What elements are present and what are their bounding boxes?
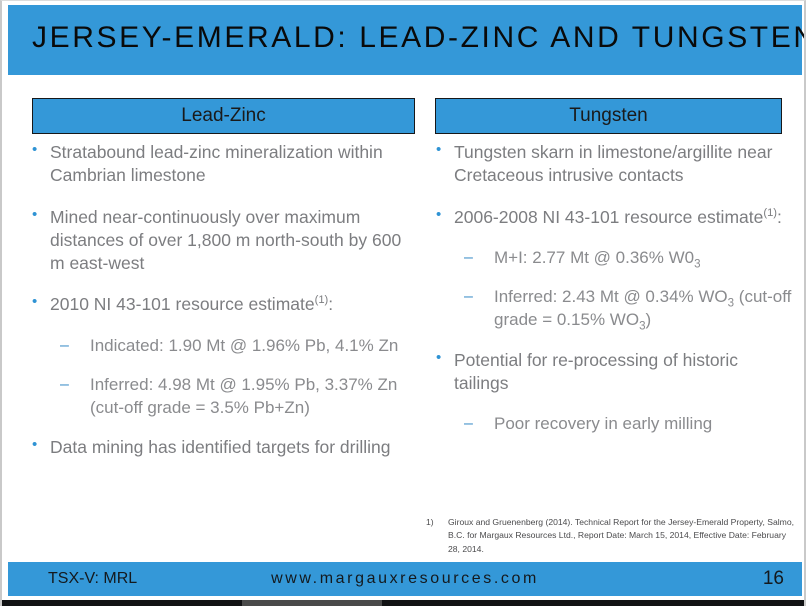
tungsten-content: Tungsten skarn in limestone/argillite ne… [432,141,792,453]
bullet-text: Stratabound lead-zinc mineralization wit… [50,142,383,185]
footnote-ref: (1) [763,207,777,219]
column-header-lead-zinc-label: Lead-Zinc [181,105,266,127]
footnote-text: Giroux and Gruenenberg (2014). Technical… [448,516,794,556]
sub-bullet-item: Poor recovery in early milling [460,413,792,436]
sub-bullet-text: M+I: 2.77 Mt @ 0.36% W0 [494,248,694,267]
bullet-suffix: : [777,207,782,227]
sub-bullet-text-end: ) [645,310,651,329]
column-header-tungsten: Tungsten [435,98,782,134]
bullet-item: Tungsten skarn in limestone/argillite ne… [432,141,792,188]
footer-bar: TSX-V: MRL www.margauxresources.com 16 [8,562,802,596]
bottom-edge-strip [2,600,806,606]
footnote-ref: (1) [315,295,329,307]
lead-zinc-content: Stratabound lead-zinc mineralization wit… [28,141,420,478]
bullet-item: Stratabound lead-zinc mineralization wit… [28,141,420,188]
sub-bullet-item: Inferred: 4.98 Mt @ 1.95% Pb, 3.37% Zn (… [56,374,420,419]
sub-bullet-item: M+I: 2.77 Mt @ 0.36% W03 [460,247,792,270]
page-title: JERSEY-EMERALD: LEAD-ZINC AND TUNGSTEN [32,21,806,55]
bullet-text: Potential for re-processing of historic … [454,350,738,393]
bullet-suffix: : [328,294,333,314]
bullet-item: Data mining has identified targets for d… [28,436,420,459]
bullet-item: Mined near-continuously over maximum dis… [28,206,420,276]
sub-bullet-item: Inferred: 2.43 Mt @ 0.34% WO3 (cut-off g… [460,286,792,331]
bullet-text: Tungsten skarn in limestone/argillite ne… [454,142,772,185]
bullet-text: Data mining has identified targets for d… [50,437,390,457]
footnote-number: 1) [426,516,448,556]
column-header-lead-zinc: Lead-Zinc [32,98,415,134]
page-number: 16 [763,568,784,590]
chemical-subscript: 3 [694,258,700,270]
sub-bullet-text: Inferred: 4.98 Mt @ 1.95% Pb, 3.37% Zn (… [90,375,397,417]
sub-bullet-item: Indicated: 1.90 Mt @ 1.96% Pb, 4.1% Zn [56,335,420,358]
footnote: 1) Giroux and Gruenenberg (2014). Techni… [426,516,794,556]
bullet-item: 2006-2008 NI 43-101 resource estimate(1)… [432,206,792,229]
bullet-item: 2010 NI 43-101 resource estimate(1): [28,293,420,316]
sub-bullet-text: Indicated: 1.90 Mt @ 1.96% Pb, 4.1% Zn [90,336,398,355]
bullet-text: 2010 NI 43-101 resource estimate [50,294,315,314]
slide: JERSEY-EMERALD: LEAD-ZINC AND TUNGSTEN L… [0,0,806,606]
bullet-text: 2006-2008 NI 43-101 resource estimate [454,207,763,227]
bullet-text: Mined near-continuously over maximum dis… [50,207,401,274]
title-banner: JERSEY-EMERALD: LEAD-ZINC AND TUNGSTEN [8,5,802,75]
sub-bullet-text: Poor recovery in early milling [494,414,712,433]
sub-bullet-text: Inferred: 2.43 Mt @ 0.34% WO [494,287,728,306]
column-header-tungsten-label: Tungsten [569,105,648,127]
bullet-item: Potential for re-processing of historic … [432,349,792,396]
bottom-edge-notch [242,600,382,606]
website-url[interactable]: www.margauxresources.com [8,570,802,588]
